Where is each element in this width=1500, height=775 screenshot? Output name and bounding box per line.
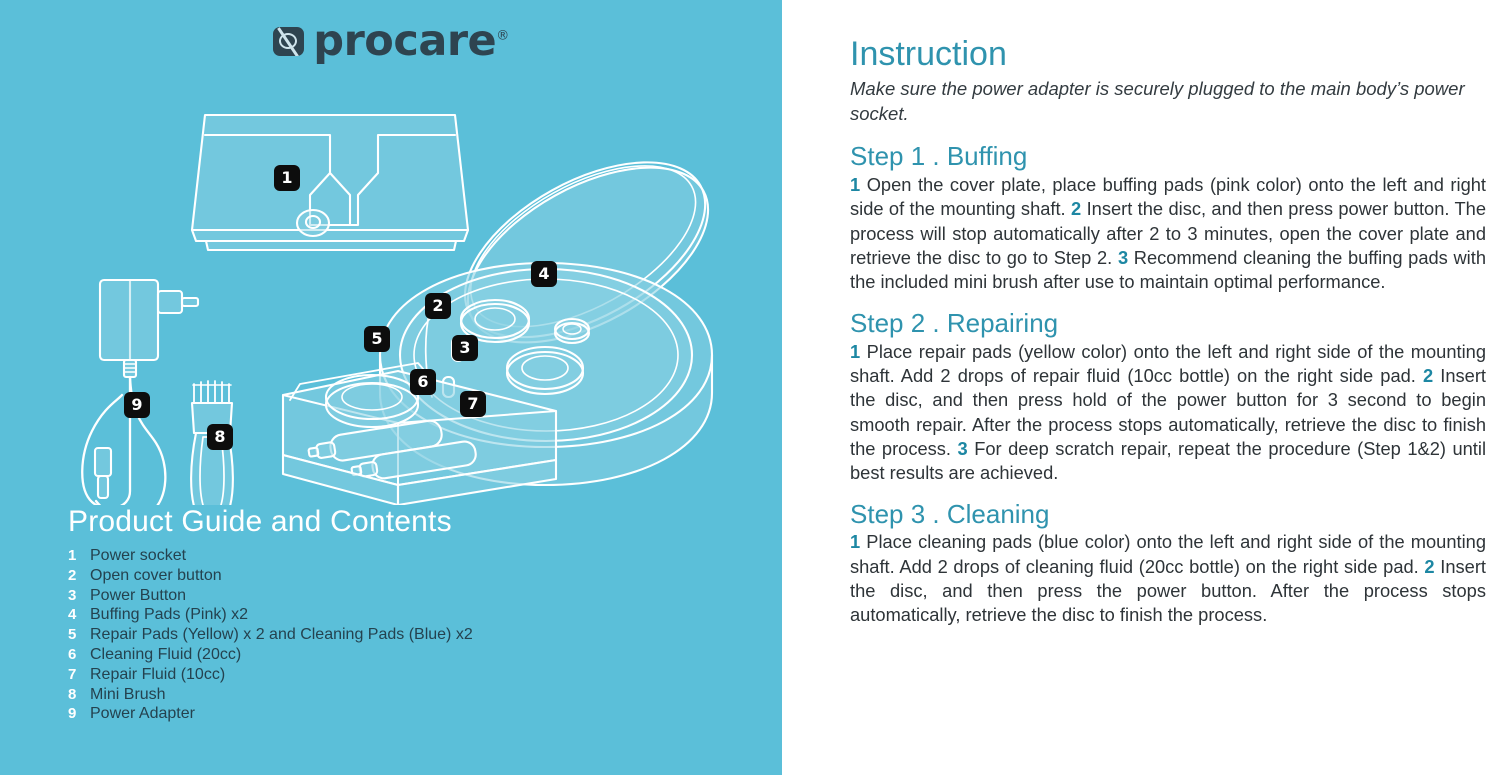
contents-list-item: 9Power Adapter	[68, 704, 768, 724]
contents-list-item: 3Power Button	[68, 586, 768, 606]
contents-item-number: 6	[68, 645, 90, 665]
contents-list-item: 7Repair Fluid (10cc)	[68, 665, 768, 685]
contents-list-item: 5Repair Pads (Yellow) x 2 and Cleaning P…	[68, 625, 768, 645]
step-heading: Step 2 . Repairing	[850, 309, 1486, 339]
contents-item-number: 3	[68, 586, 90, 606]
contents-item-label: Power Button	[90, 586, 186, 606]
right-instruction-panel: Instruction Make sure the power adapter …	[782, 0, 1500, 775]
callout-badge-6: 6	[410, 369, 436, 395]
procare-logo-mark-icon	[273, 27, 304, 56]
product-contents-list: 1Power socket2Open cover button3Power Bu…	[68, 546, 768, 724]
contents-item-number: 5	[68, 625, 90, 645]
product-guide-title: Product Guide and Contents	[68, 505, 768, 538]
step-sub-number: 3	[1118, 247, 1128, 268]
step-sub-number: 1	[850, 531, 860, 552]
step-body-text: 1 Open the cover plate, place buffing pa…	[850, 173, 1486, 295]
product-guide-section: Product Guide and Contents 1Power socket…	[68, 505, 768, 724]
callout-badge-8: 8	[207, 424, 233, 450]
step-text-run: Place cleaning pads (blue color) onto th…	[850, 531, 1486, 576]
trademark-symbol: ®	[496, 29, 509, 44]
callout-badge-4: 4	[531, 261, 557, 287]
callout-badge-3: 3	[452, 335, 478, 361]
instruction-step: Step 3 . Cleaning1 Place cleaning pads (…	[850, 500, 1486, 628]
step-sub-number: 3	[958, 438, 968, 459]
contents-list-item: 8Mini Brush	[68, 685, 768, 705]
step-body-text: 1 Place repair pads (yellow color) onto …	[850, 340, 1486, 486]
step-body-text: 1 Place cleaning pads (blue color) onto …	[850, 530, 1486, 627]
contents-list-item: 4Buffing Pads (Pink) x2	[68, 605, 768, 625]
callout-badge-5: 5	[364, 326, 390, 352]
contents-item-label: Repair Fluid (10cc)	[90, 665, 225, 685]
contents-item-label: Repair Pads (Yellow) x 2 and Cleaning Pa…	[90, 625, 473, 645]
step-heading: Step 1 . Buffing	[850, 142, 1486, 172]
left-illustration-panel: procare®	[0, 0, 782, 775]
contents-item-number: 2	[68, 566, 90, 586]
contents-item-number: 1	[68, 546, 90, 566]
instruction-steps: Step 1 . Buffing1 Open the cover plate, …	[850, 142, 1486, 628]
contents-item-label: Cleaning Fluid (20cc)	[90, 645, 241, 665]
callout-badge-1: 1	[274, 165, 300, 191]
contents-item-number: 9	[68, 704, 90, 724]
step-sub-number: 2	[1424, 556, 1434, 577]
callout-badge-2: 2	[425, 293, 451, 319]
contents-item-label: Mini Brush	[90, 685, 166, 705]
contents-item-label: Power Adapter	[90, 704, 195, 724]
contents-item-label: Buffing Pads (Pink) x2	[90, 605, 248, 625]
contents-item-label: Power socket	[90, 546, 186, 566]
instruction-subtitle: Make sure the power adapter is securely …	[850, 77, 1486, 126]
product-illustration	[0, 55, 782, 505]
contents-item-number: 7	[68, 665, 90, 685]
device-back-view	[192, 115, 468, 250]
contents-list-item: 2Open cover button	[68, 566, 768, 586]
instruction-title: Instruction	[850, 36, 1486, 73]
callout-badge-7: 7	[460, 391, 486, 417]
step-sub-number: 1	[850, 341, 860, 362]
callout-badge-9: 9	[124, 392, 150, 418]
contents-item-number: 8	[68, 685, 90, 705]
step-sub-number: 1	[850, 174, 860, 195]
contents-list-item: 6Cleaning Fluid (20cc)	[68, 645, 768, 665]
instruction-step: Step 2 . Repairing1 Place repair pads (y…	[850, 309, 1486, 486]
contents-list-item: 1Power socket	[68, 546, 768, 566]
step-text-run: Place repair pads (yellow color) onto th…	[850, 341, 1486, 386]
step-sub-number: 2	[1423, 365, 1433, 386]
instruction-step: Step 1 . Buffing1 Open the cover plate, …	[850, 142, 1486, 295]
contents-item-number: 4	[68, 605, 90, 625]
product-guide-page: procare®	[0, 0, 1500, 775]
step-sub-number: 2	[1071, 198, 1081, 219]
step-heading: Step 3 . Cleaning	[850, 500, 1486, 530]
contents-item-label: Open cover button	[90, 566, 222, 586]
